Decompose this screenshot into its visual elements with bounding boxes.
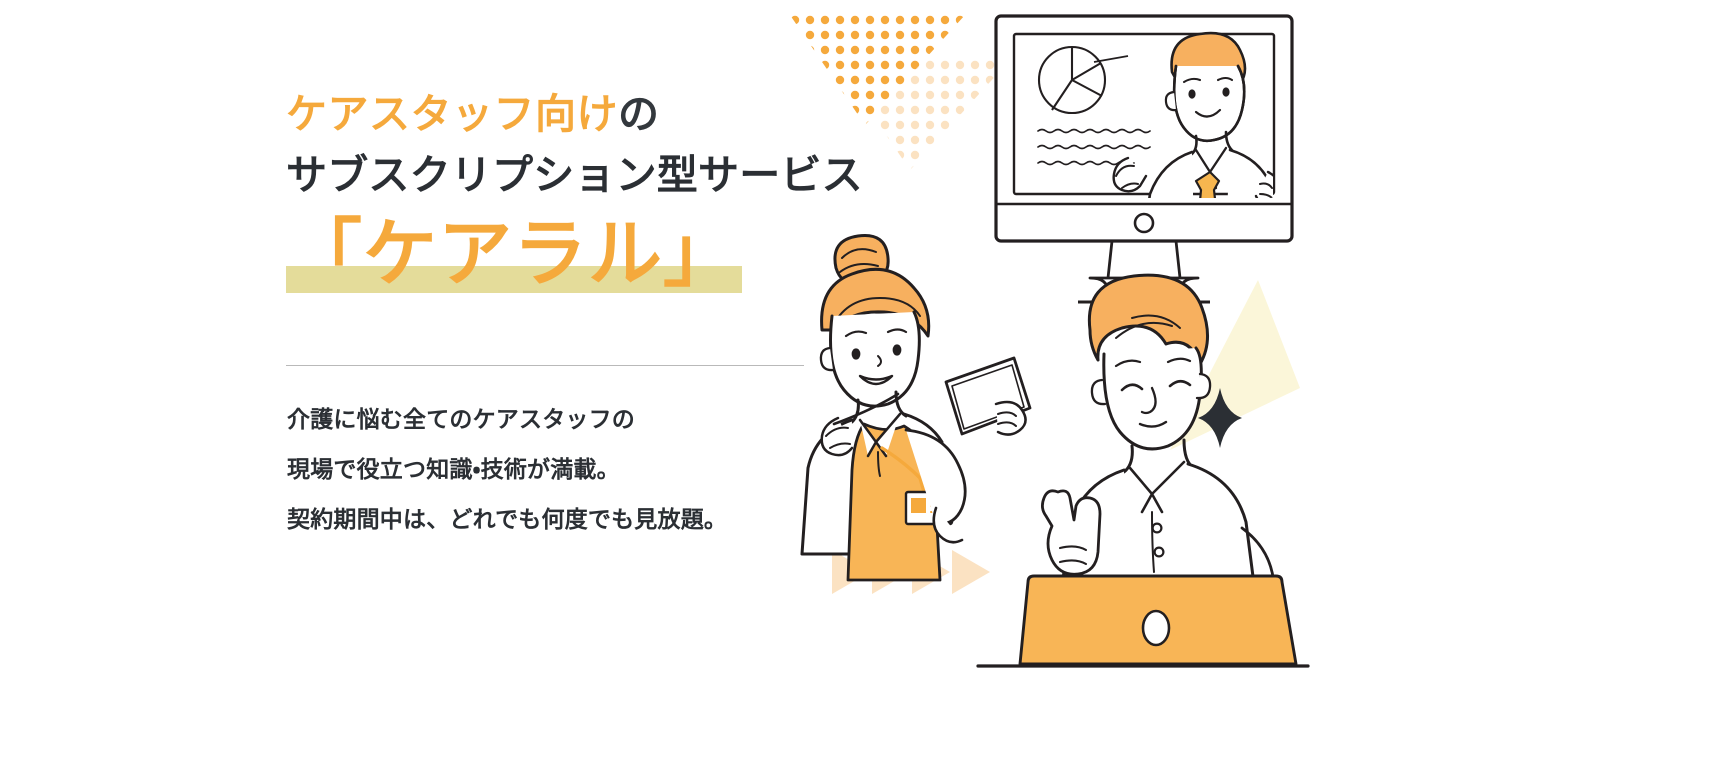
- hero-banner: ケアスタッフ向けの サブスクリプション型サービス 「ケアラル」 介護に悩む全ての…: [0, 0, 1720, 770]
- hero-illustration: [760, 0, 1380, 680]
- body-line-2: 現場で役立つ知識・技術が満載。: [287, 455, 807, 485]
- section-divider: [286, 365, 804, 366]
- care-staff-woman: [802, 235, 1030, 580]
- thumbs-up-hand: [1042, 491, 1100, 578]
- body-line-1: 介護に悩む全てのケアスタッフの: [287, 405, 807, 435]
- brand-name-wrapper: 「ケアラル」: [286, 216, 742, 295]
- body-line-3: 契約期間中は、どれでも何度でも見放題。: [287, 505, 807, 535]
- headline-line-1-tail: の: [618, 91, 660, 137]
- body-copy-block: 介護に悩む全てのケアスタッフの 現場で役立つ知識・技術が満載。 契約期間中は、ど…: [287, 405, 807, 535]
- headline-accent-text: ケアスタッフ向け: [286, 91, 618, 137]
- brand-name: 「ケアラル」: [288, 216, 738, 293]
- laptop-device: [1020, 576, 1296, 664]
